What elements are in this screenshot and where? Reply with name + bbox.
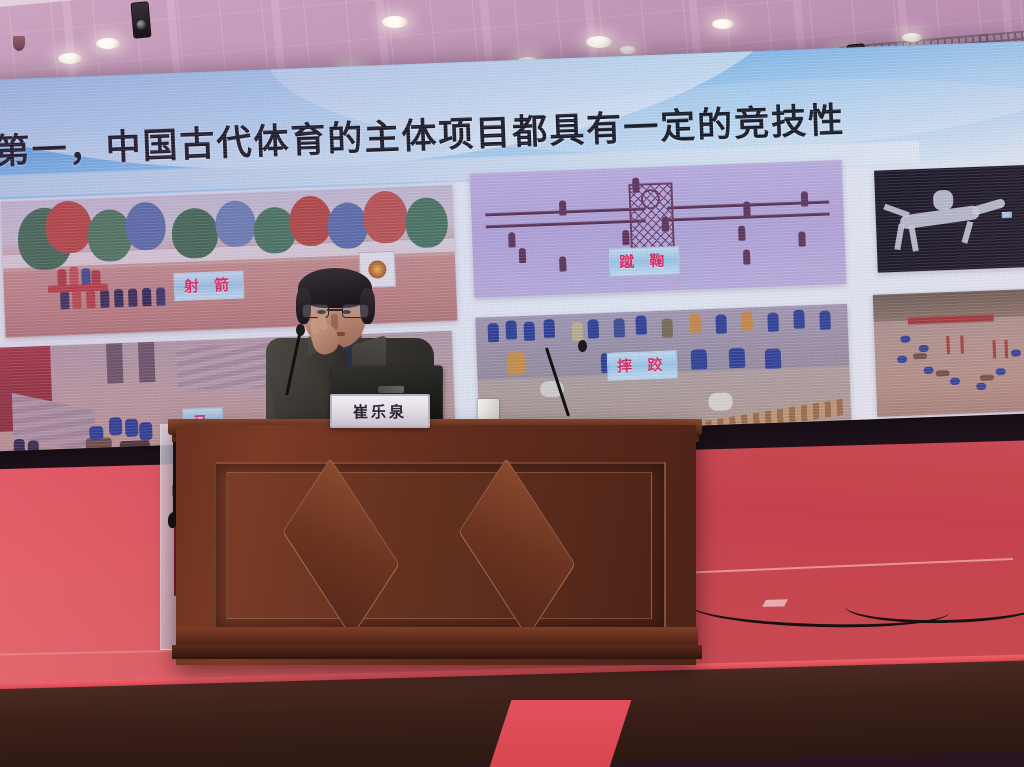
rider-icon bbox=[109, 417, 123, 435]
tree-icon bbox=[215, 200, 257, 247]
figure-icon bbox=[100, 290, 110, 308]
figure-icon bbox=[487, 323, 499, 342]
figure-icon bbox=[715, 314, 727, 333]
figure-icon bbox=[689, 313, 701, 332]
podium-diamond-ornament bbox=[459, 458, 576, 638]
slide-label-cuju: 蹴 鞠 bbox=[609, 246, 680, 277]
tree-icon bbox=[289, 195, 333, 247]
tree-icon bbox=[171, 207, 219, 259]
figure-icon bbox=[661, 318, 673, 337]
figure-icon bbox=[741, 311, 753, 330]
rider-icon bbox=[923, 367, 933, 374]
horse-icon bbox=[980, 374, 994, 381]
figure-icon bbox=[128, 288, 138, 306]
horse-leg-shape bbox=[908, 225, 918, 252]
figure-icon bbox=[743, 249, 751, 264]
rider-icon bbox=[976, 383, 986, 390]
figure-icon bbox=[142, 288, 152, 306]
downlight-icon bbox=[96, 38, 120, 49]
figure-icon bbox=[801, 191, 809, 206]
figure-icon bbox=[505, 320, 517, 339]
rider-icon bbox=[996, 368, 1006, 375]
figure-icon bbox=[632, 178, 640, 193]
rider-icon bbox=[1011, 349, 1021, 356]
microphone-head-icon bbox=[296, 324, 305, 336]
speaker-nameplate: 崔乐泉 bbox=[330, 394, 430, 428]
horse-tail-shape bbox=[883, 204, 909, 218]
polo-goal-post bbox=[992, 340, 996, 358]
tree-icon bbox=[405, 197, 449, 249]
figure-icon bbox=[622, 230, 630, 245]
downlight-icon bbox=[58, 53, 82, 64]
podium-plinth bbox=[172, 645, 702, 659]
figure-icon bbox=[559, 200, 567, 215]
slide-image-chariot-rubbing bbox=[874, 165, 1024, 273]
rider-icon bbox=[900, 336, 910, 343]
rider-icon bbox=[919, 345, 929, 352]
figure-icon bbox=[559, 256, 567, 271]
figure-icon bbox=[743, 201, 751, 216]
figure-icon bbox=[662, 216, 670, 231]
horse-leg-shape bbox=[962, 221, 974, 244]
eyeglass-lens bbox=[342, 304, 369, 318]
figure-icon bbox=[571, 322, 583, 341]
downlight-icon bbox=[902, 33, 922, 42]
cuju-barrier bbox=[486, 219, 646, 228]
figure-icon bbox=[156, 287, 166, 305]
figure-icon bbox=[69, 267, 79, 285]
wrestler-icon bbox=[729, 348, 746, 369]
stage-step bbox=[489, 700, 632, 767]
pillar bbox=[138, 342, 155, 383]
rider-icon bbox=[139, 422, 153, 440]
slide-label-archery: 射 箭 bbox=[173, 270, 244, 301]
polo-goal-post bbox=[1004, 340, 1008, 358]
pillar bbox=[106, 343, 123, 384]
security-camera-icon bbox=[130, 1, 151, 38]
tree-icon bbox=[125, 201, 167, 250]
slide-image-polo bbox=[873, 289, 1024, 417]
figure-icon bbox=[798, 231, 806, 246]
ceiling-speaker-icon bbox=[13, 36, 25, 51]
figure-icon bbox=[508, 232, 516, 247]
polo-goal-post bbox=[960, 336, 964, 354]
wrestler-icon bbox=[691, 349, 708, 370]
horse-leg-shape bbox=[894, 224, 904, 251]
figure-icon bbox=[738, 226, 746, 241]
tree-icon bbox=[362, 190, 408, 244]
rider-icon bbox=[897, 356, 907, 363]
tree-icon bbox=[327, 202, 369, 249]
rider-icon bbox=[89, 426, 104, 441]
rider-shape bbox=[933, 190, 954, 211]
figure-icon bbox=[60, 291, 70, 309]
figure-icon bbox=[635, 315, 647, 334]
rider-icon bbox=[125, 419, 139, 437]
figure-icon bbox=[519, 248, 527, 263]
podium-panel-inner bbox=[226, 472, 652, 619]
downlight-icon bbox=[712, 19, 734, 29]
microphone-head-icon bbox=[578, 340, 587, 352]
eyeglasses-icon bbox=[302, 304, 368, 316]
figure-icon bbox=[819, 310, 831, 329]
tree-icon bbox=[45, 200, 93, 254]
wrestler-icon bbox=[507, 352, 526, 375]
figure-icon bbox=[86, 290, 96, 308]
slide-label-wrestling: 摔 跤 bbox=[607, 350, 678, 381]
figure-icon bbox=[613, 318, 625, 337]
laptop-brand-logo bbox=[378, 386, 404, 393]
lecture-hall-photo: 第一，中国古代体育的主体项目都具有一定的竞技性 bbox=[0, 0, 1024, 767]
downlight-icon bbox=[382, 16, 408, 28]
wrestler-icon bbox=[765, 348, 782, 369]
slide-label-chariot bbox=[1002, 212, 1012, 218]
rider-icon bbox=[950, 378, 960, 385]
figure-icon bbox=[587, 319, 599, 338]
figure-icon bbox=[72, 291, 82, 309]
speaker-nameplate-text: 崔乐泉 bbox=[353, 401, 407, 422]
downlight-icon bbox=[586, 36, 612, 48]
horse-icon bbox=[936, 370, 950, 377]
figure-icon bbox=[767, 312, 779, 331]
downlight-icon bbox=[620, 46, 636, 54]
slide-image-cuju: 蹴 鞠 bbox=[470, 160, 846, 298]
horse-icon bbox=[913, 353, 927, 360]
figure-icon bbox=[523, 322, 535, 341]
figure-icon bbox=[543, 319, 555, 338]
eyeglass-bridge bbox=[327, 309, 342, 311]
podium-diamond-ornament bbox=[283, 458, 400, 638]
figure-icon bbox=[793, 309, 805, 328]
wrestler-icon bbox=[708, 392, 733, 411]
polo-goal-post bbox=[946, 336, 950, 354]
figure-icon bbox=[114, 289, 124, 307]
